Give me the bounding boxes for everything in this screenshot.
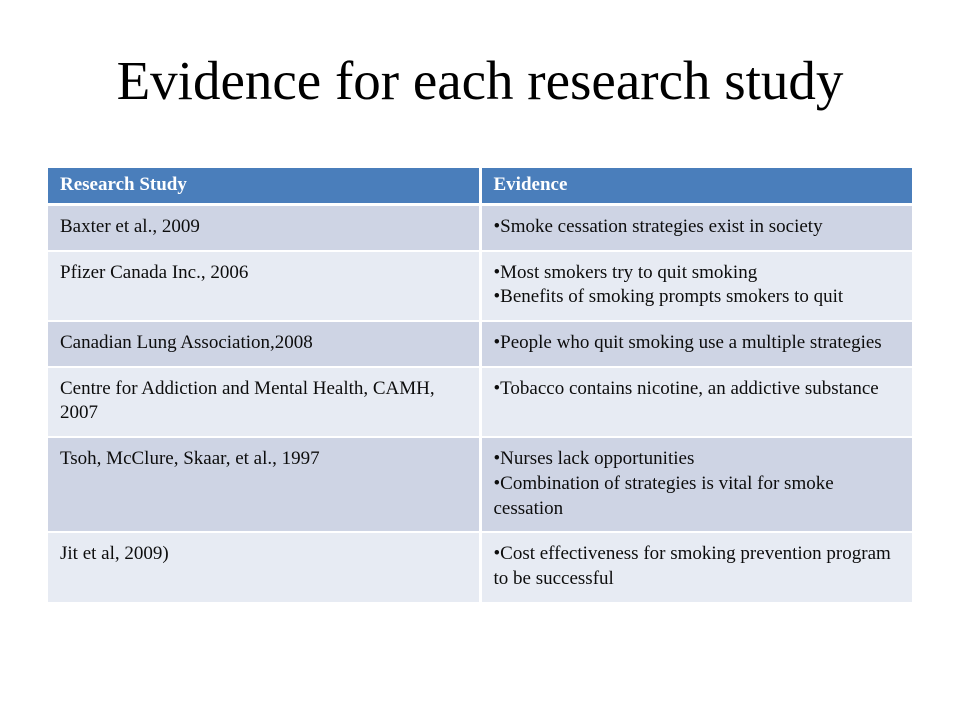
cell-evidence: •Cost effectiveness for smoking preventi…	[480, 532, 912, 602]
evidence-bullet-item: •Nurses lack opportunities	[494, 447, 901, 472]
cell-research-study: Canadian Lung Association,2008	[48, 321, 480, 367]
table-header-row: Research Study Evidence	[48, 168, 912, 205]
table-row: Centre for Addiction and Mental Health, …	[48, 367, 912, 437]
evidence-bullet-item: •Smoke cessation strategies exist in soc…	[494, 215, 901, 240]
cell-research-study: Centre for Addiction and Mental Health, …	[48, 367, 480, 437]
evidence-bullet-list: •People who quit smoking use a multiple …	[494, 331, 901, 356]
evidence-bullet-text: Smoke cessation strategies exist in soci…	[500, 216, 822, 237]
table-header: Research Study Evidence	[48, 168, 912, 205]
evidence-bullet-item: •People who quit smoking use a multiple …	[494, 331, 901, 356]
evidence-bullet-list: •Smoke cessation strategies exist in soc…	[494, 215, 901, 240]
cell-research-study: Baxter et al., 2009	[48, 205, 480, 251]
table-row: Canadian Lung Association,2008•People wh…	[48, 321, 912, 367]
evidence-bullet-list: •Most smokers try to quit smoking•Benefi…	[494, 261, 901, 310]
evidence-bullet-text: Cost effectiveness for smoking preventio…	[494, 543, 891, 589]
table-row: Jit et al, 2009)•Cost effectiveness for …	[48, 532, 912, 602]
table-row: Baxter et al., 2009•Smoke cessation stra…	[48, 205, 912, 251]
slide-canvas: Evidence for each research study Researc…	[0, 0, 960, 720]
evidence-bullet-item: •Tobacco contains nicotine, an addictive…	[494, 377, 901, 402]
evidence-bullet-text: People who quit smoking use a multiple s…	[500, 332, 882, 353]
table-row: Tsoh, McClure, Skaar, et al., 1997•Nurse…	[48, 437, 912, 532]
cell-evidence: •Smoke cessation strategies exist in soc…	[480, 205, 912, 251]
evidence-bullet-list: •Cost effectiveness for smoking preventi…	[494, 542, 901, 591]
cell-evidence: •People who quit smoking use a multiple …	[480, 321, 912, 367]
evidence-table: Research Study Evidence Baxter et al., 2…	[48, 168, 912, 604]
evidence-bullet-item: •Most smokers try to quit smoking	[494, 261, 901, 286]
table-row: Pfizer Canada Inc., 2006•Most smokers tr…	[48, 251, 912, 321]
evidence-bullet-text: Tobacco contains nicotine, an addictive …	[500, 378, 879, 399]
cell-evidence: •Most smokers try to quit smoking•Benefi…	[480, 251, 912, 321]
cell-research-study: Jit et al, 2009)	[48, 532, 480, 602]
page-title: Evidence for each research study	[0, 52, 960, 110]
evidence-bullet-item: •Cost effectiveness for smoking preventi…	[494, 542, 901, 591]
evidence-bullet-item: •Combination of strategies is vital for …	[494, 472, 901, 521]
evidence-bullet-text: Most smokers try to quit smoking	[500, 262, 757, 283]
column-header-evidence: Evidence	[480, 168, 912, 205]
cell-research-study: Tsoh, McClure, Skaar, et al., 1997	[48, 437, 480, 532]
evidence-bullet-list: •Nurses lack opportunities•Combination o…	[494, 447, 901, 521]
cell-evidence: •Tobacco contains nicotine, an addictive…	[480, 367, 912, 437]
column-header-research-study: Research Study	[48, 168, 480, 205]
cell-evidence: •Nurses lack opportunities•Combination o…	[480, 437, 912, 532]
evidence-bullet-text: Combination of strategies is vital for s…	[494, 473, 834, 519]
evidence-bullet-text: Benefits of smoking prompts smokers to q…	[500, 286, 843, 307]
evidence-bullet-list: •Tobacco contains nicotine, an addictive…	[494, 377, 901, 402]
evidence-bullet-item: •Benefits of smoking prompts smokers to …	[494, 285, 901, 310]
cell-research-study: Pfizer Canada Inc., 2006	[48, 251, 480, 321]
table-body: Baxter et al., 2009•Smoke cessation stra…	[48, 205, 912, 603]
evidence-bullet-text: Nurses lack opportunities	[500, 448, 694, 469]
